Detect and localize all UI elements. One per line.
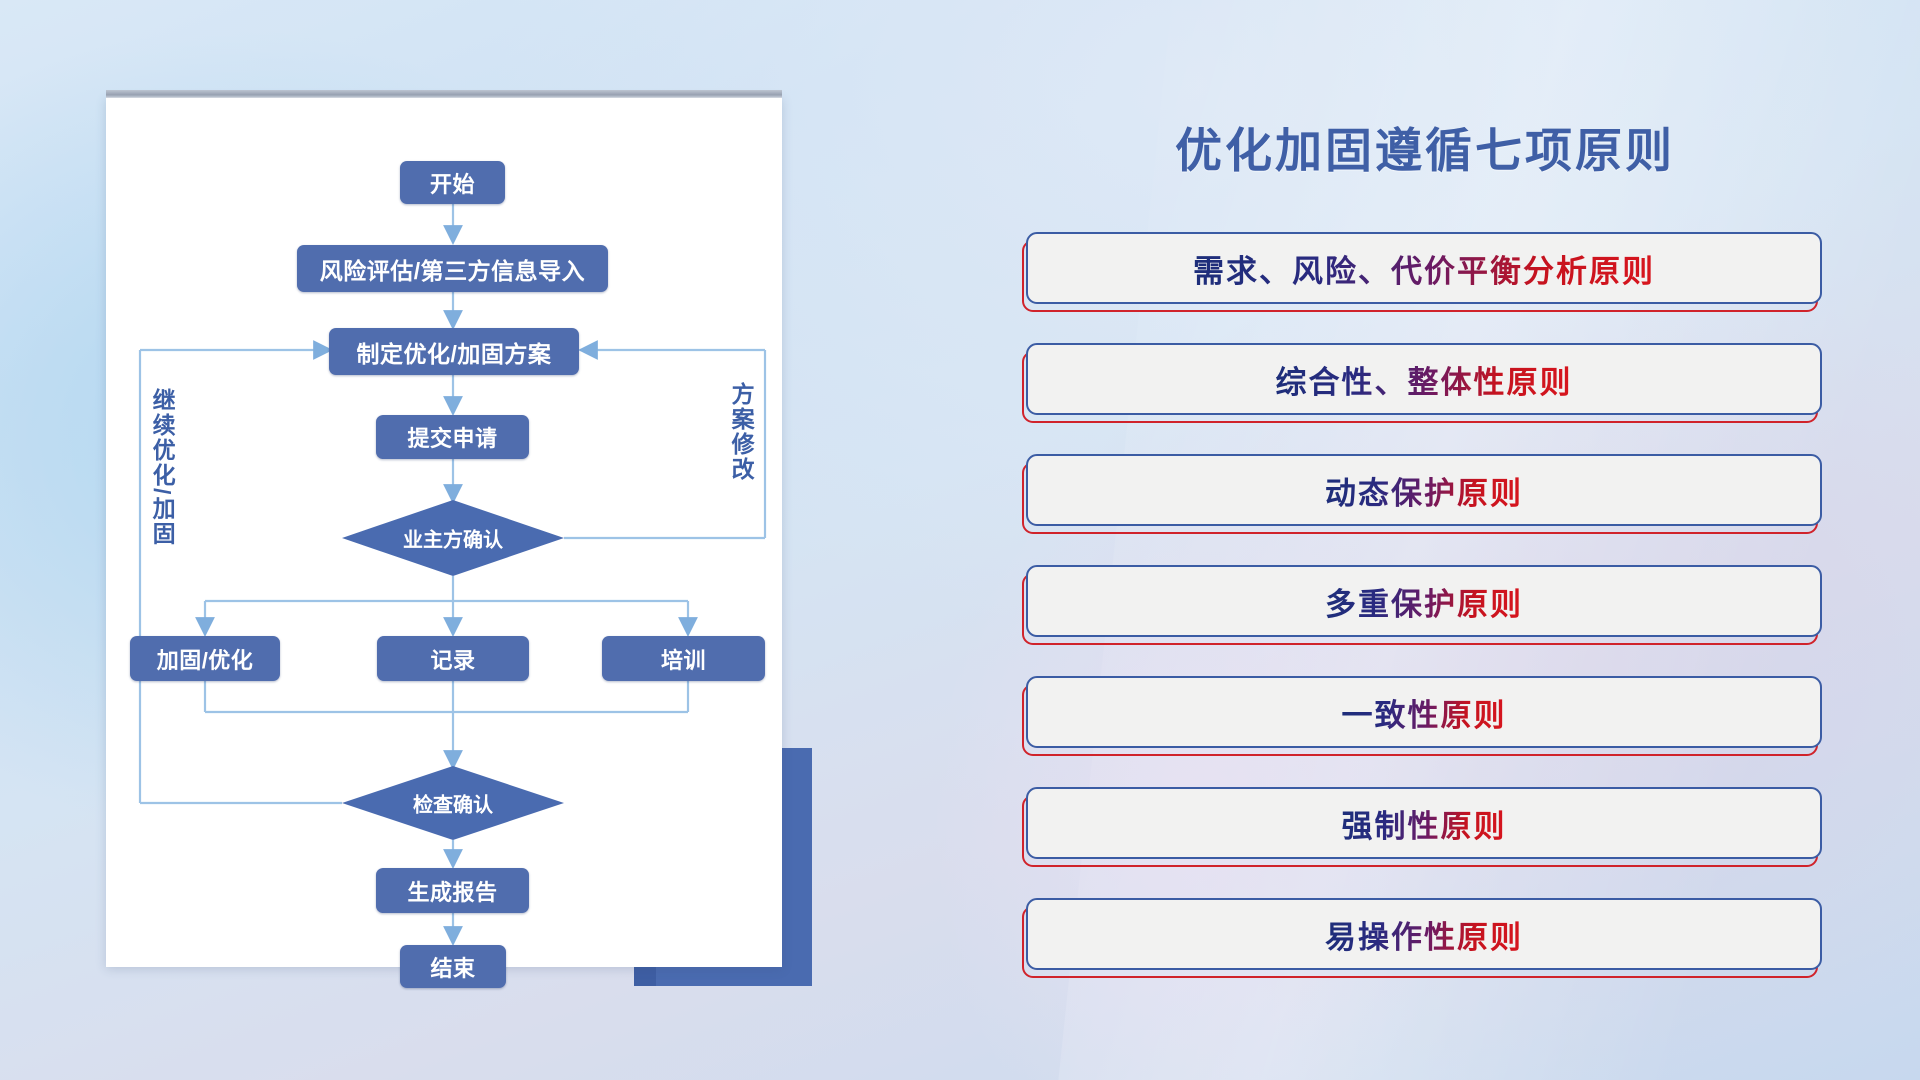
principles-list: 需求、风险、代价平衡分析原则 综合性、整体性原则 动态保护原则 多重保护原则 一… [1026,232,1822,1009]
flow-node-label: 生成报告 [407,875,497,907]
flow-node-start[interactable]: 开始 [400,161,505,204]
flow-decision-owner-confirm-label: 业主方确认 [403,524,503,553]
flow-node-risk-assessment[interactable]: 风险评估/第三方信息导入 [297,245,608,292]
flow-node-make-plan[interactable]: 制定优化/加固方案 [329,328,579,375]
flow-node-label: 制定优化/加固方案 [357,335,552,369]
principle-card-3[interactable]: 动态保护原则 [1026,454,1822,526]
principle-card-6[interactable]: 强制性原则 [1026,787,1822,859]
principle-card-label: 强制性原则 [1342,801,1507,846]
principle-card-7[interactable]: 易操作性原则 [1026,898,1822,970]
principle-card-label: 动态保护原则 [1325,468,1523,513]
flow-node-label: 记录 [430,643,475,675]
flow-node-label: 结束 [430,951,475,983]
flow-node-record[interactable]: 记录 [377,636,529,681]
principle-card-5[interactable]: 一致性原则 [1026,676,1822,748]
flow-decision-check-confirm-label: 检查确认 [413,789,493,818]
principles-panel-title: 优化加固遵循七项原则 [1030,112,1820,181]
principle-card-label: 综合性、整体性原则 [1276,357,1573,402]
flow-node-label: 提交申请 [407,421,497,453]
flow-node-label: 培训 [661,643,706,675]
flow-node-label: 风险评估/第三方信息导入 [320,252,585,286]
principle-card-label: 多重保护原则 [1325,579,1523,624]
flow-edge-label-plan-revision: 方案修改 [729,382,753,482]
principle-card-4[interactable]: 多重保护原则 [1026,565,1822,637]
slide-root: 开始 风险评估/第三方信息导入 制定优化/加固方案 提交申请 业主方确认 加固/… [0,0,1920,1080]
flow-node-label: 开始 [430,167,475,199]
flow-node-label: 加固/优化 [157,643,254,675]
principle-card-2[interactable]: 综合性、整体性原则 [1026,343,1822,415]
flow-node-generate-report[interactable]: 生成报告 [376,868,529,913]
flow-edge-label-continue-optimize: 继续优化/加固 [150,388,174,546]
flow-node-reinforce-optimize[interactable]: 加固/优化 [130,636,280,681]
flow-node-end[interactable]: 结束 [400,945,506,988]
flow-node-training[interactable]: 培训 [602,636,765,681]
principle-card-label: 一致性原则 [1342,690,1507,735]
principle-card-label: 需求、风险、代价平衡分析原则 [1193,246,1655,291]
flow-node-submit-application[interactable]: 提交申请 [376,415,529,459]
principle-card-1[interactable]: 需求、风险、代价平衡分析原则 [1026,232,1822,304]
principle-card-label: 易操作性原则 [1325,912,1523,957]
